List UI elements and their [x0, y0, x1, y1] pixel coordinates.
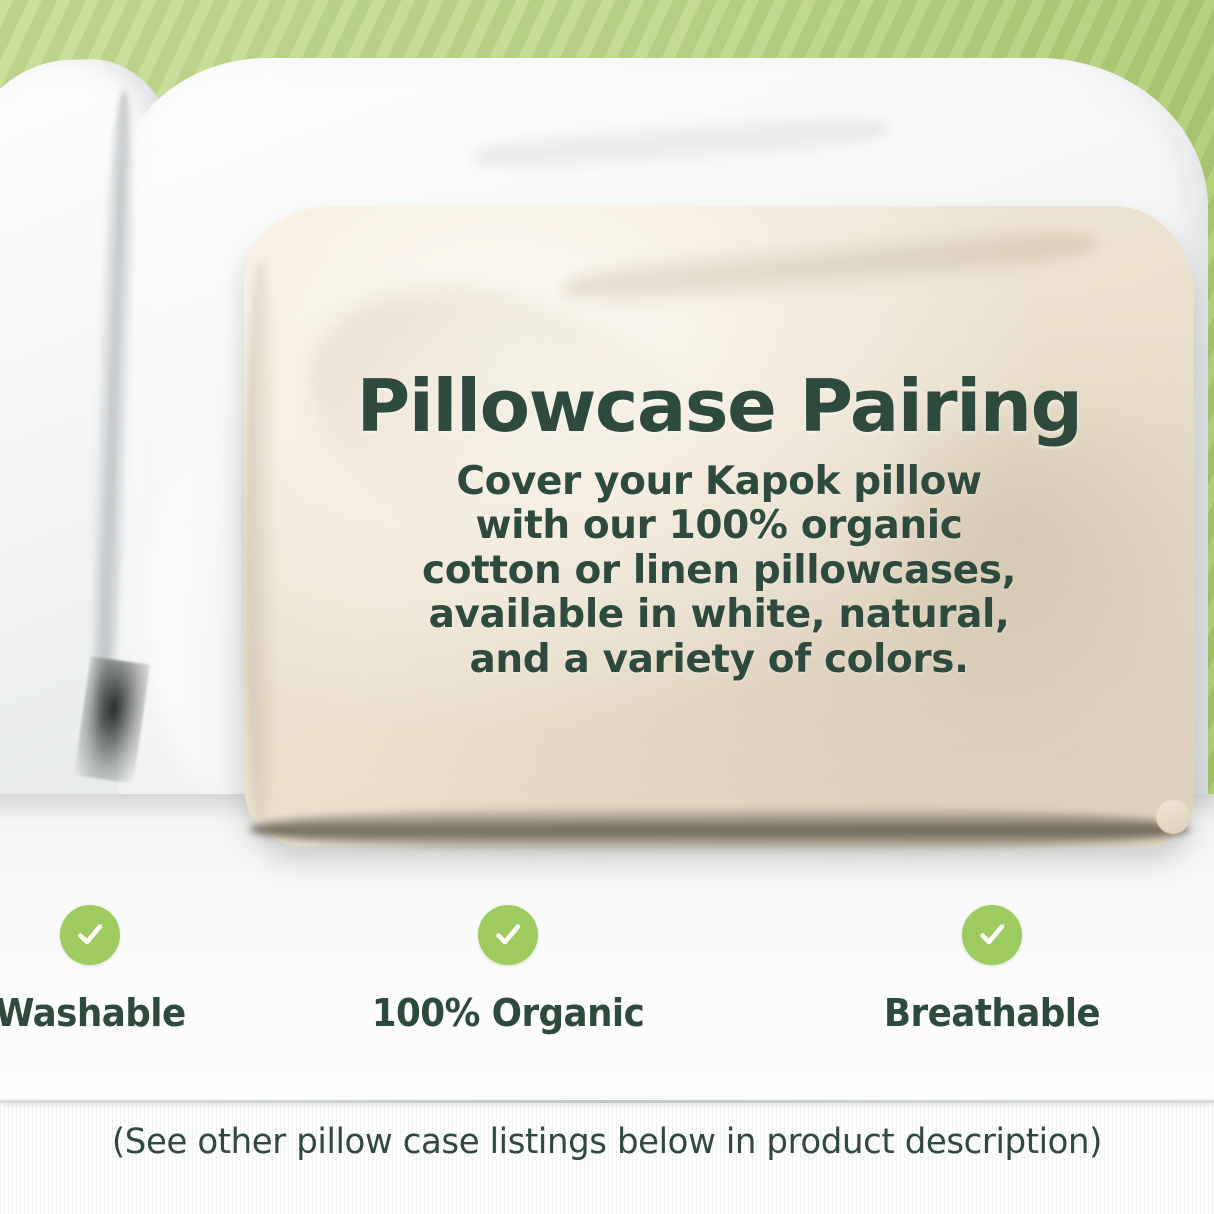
marketing-copy-block: Pillowcase Pairing Cover your Kapok pill…	[244, 370, 1194, 682]
body-copy-line-2: with our 100% organic	[244, 504, 1194, 548]
feature-label: 100% Organic	[372, 991, 645, 1035]
check-icon	[60, 905, 120, 965]
kapok-pillow-corner-nub	[1156, 800, 1190, 834]
check-icon	[478, 905, 538, 965]
product-marketing-image: Pillowcase Pairing Cover your Kapok pill…	[0, 0, 1214, 1214]
body-copy-line-4: available in white, natural,	[244, 593, 1194, 637]
body-copy: Cover your Kapok pillow with our 100% or…	[244, 460, 1194, 682]
page-title: Pillowcase Pairing	[235, 370, 1204, 442]
body-copy-line-1: Cover your Kapok pillow	[244, 460, 1194, 504]
body-copy-line-3: cotton or linen pillowcases,	[244, 549, 1194, 593]
check-icon	[962, 905, 1022, 965]
feature-label: Washable	[0, 991, 185, 1035]
feature-organic: 100% Organic	[286, 905, 730, 1035]
feature-label: Breathable	[884, 991, 1100, 1035]
body-copy-line-5: and a variety of colors.	[244, 638, 1194, 682]
footer-note: (See other pillow case listings below in…	[18, 1122, 1196, 1162]
kapok-pillow-bottom-shadow	[250, 806, 1190, 852]
feature-breathable: Breathable	[770, 905, 1214, 1035]
feature-washable: Washable	[0, 905, 312, 1035]
feature-badge-row: Washable 100% Organic Breathable	[0, 905, 1214, 1035]
